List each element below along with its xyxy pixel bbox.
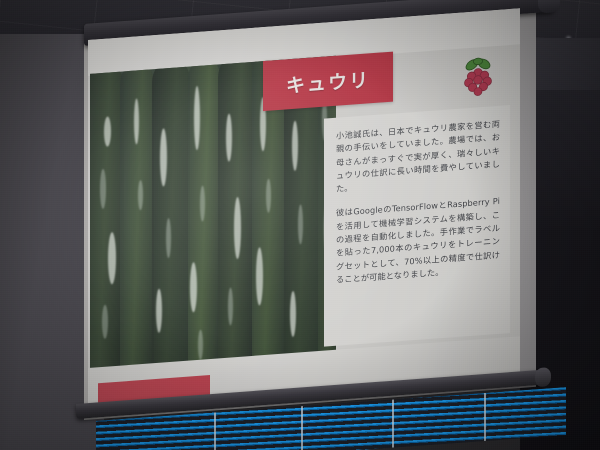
slide-paragraph-2: 彼はGoogleのTensorFlowとRaspberry Piを活用して機械学…: [336, 195, 500, 287]
slide-title-banner: キュウリ: [263, 52, 393, 112]
blind-cord: [214, 412, 216, 450]
blind-cord: [301, 406, 303, 450]
slide-canvas: キュウリ: [88, 8, 520, 412]
raspberry-pi-logo: [458, 54, 498, 103]
blind-cord: [484, 393, 486, 441]
projected-slide: キュウリ: [88, 8, 520, 412]
room-photo: キュウリ: [0, 0, 600, 450]
blind-cord: [392, 399, 394, 447]
slide-text-panel: 小池誠氏は、日本でキュウリ農家を営む両親の手伝いをしていました。農場では、お母さ…: [324, 105, 510, 347]
slide-paragraph-1: 小池誠氏は、日本でキュウリ農家を営む両親の手伝いをしていました。農場では、お母さ…: [336, 118, 500, 196]
slide-title: キュウリ: [286, 65, 370, 98]
